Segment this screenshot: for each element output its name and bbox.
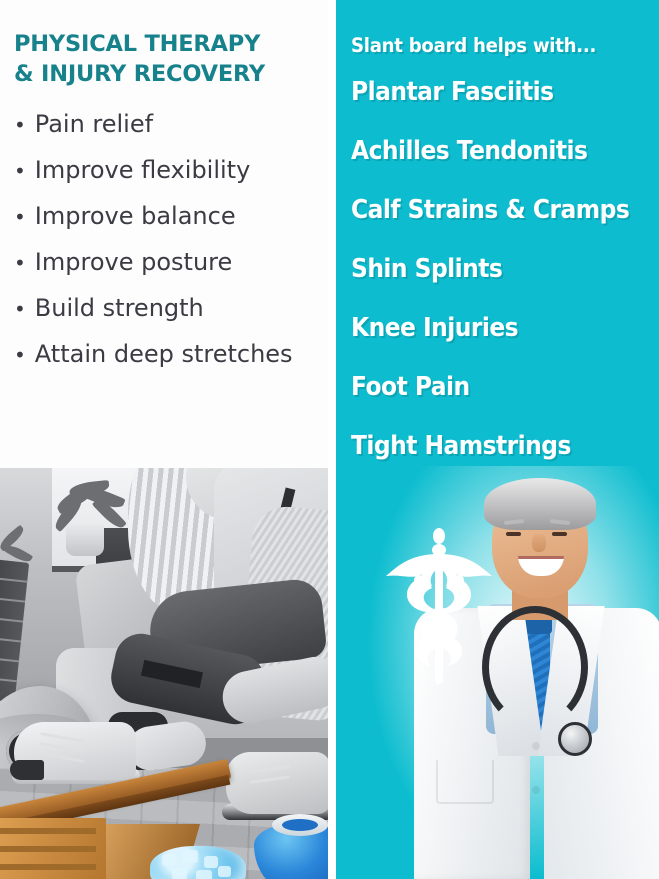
panel-divider: [328, 0, 336, 879]
list-item: Shin Splints: [351, 256, 623, 282]
bullet-icon: •: [14, 161, 26, 181]
photo-plant-pot: [66, 524, 104, 556]
list-item: Tight Hamstrings: [351, 433, 623, 459]
caduceus-icon: [384, 524, 494, 694]
doctor-coat-button: [532, 742, 540, 750]
benefit-label: Pain relief: [35, 112, 153, 136]
list-item: Foot Pain: [351, 374, 623, 400]
stethoscope-tube: [482, 606, 588, 728]
photo-left-shoe-toe: [10, 760, 44, 780]
left-text-block: PHYSICAL THERAPY & INJURY RECOVERY •Pain…: [0, 0, 328, 366]
page-title: PHYSICAL THERAPY & INJURY RECOVERY: [14, 30, 322, 90]
doctor-hair: [484, 478, 596, 530]
conditions-block: Slant board helps with... Plantar Fascii…: [336, 0, 659, 459]
bullet-icon: •: [14, 253, 26, 273]
bullet-icon: •: [14, 115, 26, 135]
stethoscope-bell: [558, 722, 592, 756]
benefit-label: Improve flexibility: [35, 158, 251, 182]
list-item: •Build strength: [14, 296, 322, 320]
photo-right-shoe: [226, 752, 328, 814]
infographic-page: PHYSICAL THERAPY & INJURY RECOVERY •Pain…: [0, 0, 659, 879]
list-item: •Improve flexibility: [14, 158, 322, 182]
list-item: •Attain deep stretches: [14, 342, 322, 366]
list-item: Achilles Tendonitis: [351, 138, 623, 164]
doctor-coat-pocket: [436, 760, 494, 804]
doctor-nose: [532, 534, 546, 552]
conditions-heading: Slant board helps with...: [351, 34, 632, 57]
list-item: Knee Injuries: [351, 315, 623, 341]
photo-slant-board-frame: [0, 818, 106, 879]
doctor-eye: [552, 532, 567, 536]
lifestyle-photo: [0, 468, 328, 879]
list-item: Plantar Fasciitis: [351, 79, 623, 105]
doctor-eye: [506, 532, 521, 536]
benefit-label: Build strength: [35, 296, 204, 320]
bullet-icon: •: [14, 207, 26, 227]
photo-ice-pack-cap-inner: [282, 819, 318, 831]
bullet-icon: •: [14, 299, 26, 319]
benefit-label: Attain deep stretches: [35, 342, 293, 366]
benefit-label: Improve balance: [35, 204, 236, 228]
headline-line-1: PHYSICAL THERAPY: [14, 30, 322, 60]
list-item: •Pain relief: [14, 112, 322, 136]
bullet-icon: •: [14, 345, 26, 365]
list-item: Calf Strains & Cramps: [351, 197, 623, 223]
doctor-coat-button: [532, 786, 540, 794]
photo-ice-cubes: [150, 846, 246, 879]
left-panel: PHYSICAL THERAPY & INJURY RECOVERY •Pain…: [0, 0, 328, 879]
headline-line-2: & INJURY RECOVERY: [14, 60, 322, 90]
right-panel: Slant board helps with... Plantar Fascii…: [336, 0, 659, 879]
list-item: •Improve balance: [14, 204, 322, 228]
list-item: •Improve posture: [14, 250, 322, 274]
benefit-label: Improve posture: [35, 250, 232, 274]
benefits-list: •Pain relief •Improve flexibility •Impro…: [14, 112, 322, 366]
